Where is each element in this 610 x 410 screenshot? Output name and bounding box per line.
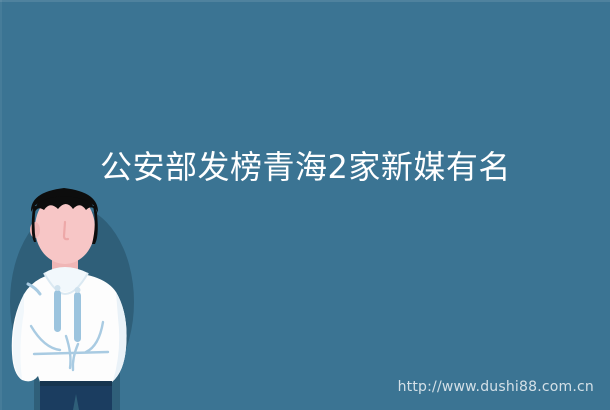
page-title: 公安部发榜青海2家新媒有名 <box>100 145 570 189</box>
article-cover-card: 公安部发榜青海2家新媒有名 http://www.dushi88.com.cn <box>0 0 610 410</box>
person-illustration <box>0 172 160 410</box>
top-edge-highlight <box>0 0 610 2</box>
watermark-url: http://www.dushi88.com.cn <box>398 378 594 396</box>
